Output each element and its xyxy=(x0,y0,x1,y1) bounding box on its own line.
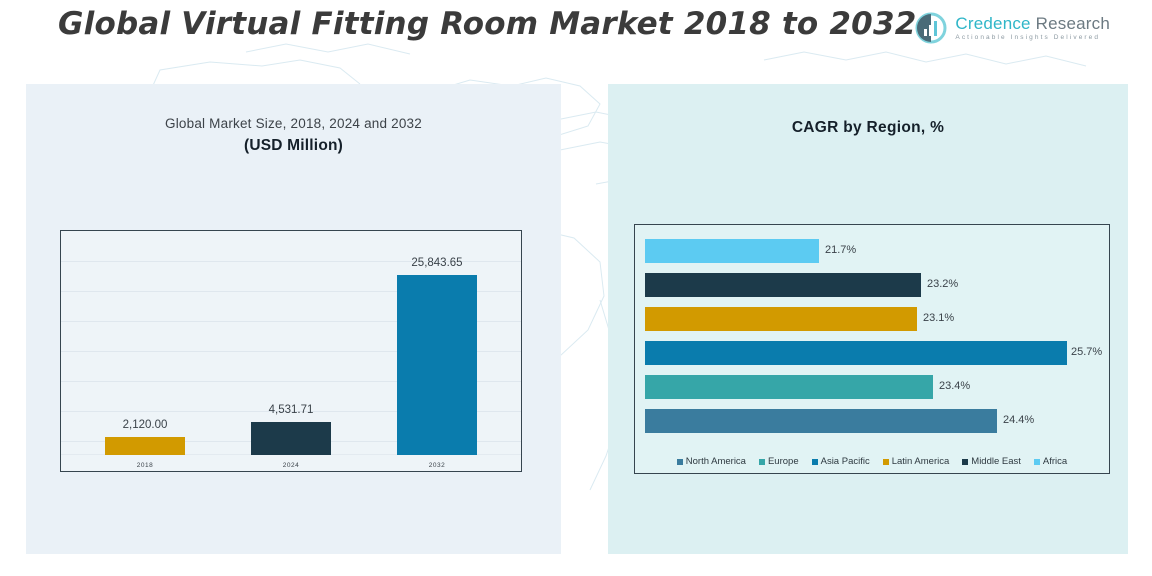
bar-label-2032: 25,843.65 xyxy=(387,257,487,269)
market-size-heading-line2: (USD Million) xyxy=(26,137,561,155)
infographic-page: Global Virtual Fitting Room Market 2018 … xyxy=(0,0,1152,576)
bar-chart-circle-logo-icon xyxy=(915,12,947,44)
legend-swatch-asia-pacific xyxy=(812,459,818,465)
page-header: Global Virtual Fitting Room Market 2018 … xyxy=(0,0,1152,62)
cagr-chart: 21.7% 23.2% 23.1% 25.7% 23.4% 24.4% Nort… xyxy=(634,224,1110,474)
bar-label-middle-east: 23.2% xyxy=(927,278,958,290)
legend-swatch-middle-east xyxy=(962,459,968,465)
xtick-2018: 2018 xyxy=(95,462,195,469)
cagr-panel: CAGR by Region, % 21.7% 23.2% 23.1% 25.7… xyxy=(608,84,1128,554)
bar-label-latin-america: 23.1% xyxy=(923,312,954,324)
bar-asia-pacific xyxy=(645,341,1067,365)
legend-label-europe: Europe xyxy=(768,456,799,467)
market-size-chart: 2,120.00 2018 4,531.71 2024 25,843.65 20… xyxy=(60,230,522,472)
legend-item-asia-pacific[interactable]: Asia Pacific xyxy=(812,456,870,467)
legend-label-middle-east: Middle East xyxy=(971,456,1021,467)
page-title: Global Virtual Fitting Room Market 2018 … xyxy=(58,6,916,42)
bar-europe xyxy=(645,375,933,399)
brand-logo: Credence Research Actionable Insights De… xyxy=(915,12,1110,44)
legend-label-asia-pacific: Asia Pacific xyxy=(821,456,870,467)
logo-tagline: Actionable Insights Delivered xyxy=(955,35,1110,42)
bar-label-africa: 21.7% xyxy=(825,244,856,256)
cagr-legend: North America Europe Asia Pacific Latin … xyxy=(635,456,1109,467)
logo-name-secondary: Research xyxy=(1036,14,1110,33)
bar-2032 xyxy=(397,275,477,455)
legend-swatch-north-america xyxy=(677,459,683,465)
bar-north-america xyxy=(645,409,997,433)
logo-name-primary: Credence xyxy=(955,14,1030,33)
cagr-heading-text: CAGR by Region, % xyxy=(608,119,1128,137)
bar-label-north-america: 24.4% xyxy=(1003,414,1034,426)
legend-item-middle-east[interactable]: Middle East xyxy=(962,456,1021,467)
legend-label-north-america: North America xyxy=(686,456,746,467)
legend-item-north-america[interactable]: North America xyxy=(677,456,746,467)
bar-2018 xyxy=(105,437,185,455)
legend-item-africa[interactable]: Africa xyxy=(1034,456,1067,467)
bar-2024 xyxy=(251,422,331,455)
legend-label-latin-america: Latin America xyxy=(892,456,950,467)
legend-swatch-europe xyxy=(759,459,765,465)
market-size-heading: Global Market Size, 2018, 2024 and 2032 … xyxy=(26,116,561,155)
bar-africa xyxy=(645,239,819,263)
xtick-2032: 2032 xyxy=(387,462,487,469)
xtick-2024: 2024 xyxy=(241,462,341,469)
market-size-heading-line1: Global Market Size, 2018, 2024 and 2032 xyxy=(26,116,561,131)
bar-label-2024: 4,531.71 xyxy=(241,404,341,416)
bar-latin-america xyxy=(645,307,917,331)
legend-item-latin-america[interactable]: Latin America xyxy=(883,456,950,467)
bar-label-europe: 23.4% xyxy=(939,380,970,392)
legend-label-africa: Africa xyxy=(1043,456,1067,467)
legend-swatch-latin-america xyxy=(883,459,889,465)
bar-label-2018: 2,120.00 xyxy=(95,419,195,431)
bar-middle-east xyxy=(645,273,921,297)
market-size-panel: Global Market Size, 2018, 2024 and 2032 … xyxy=(26,84,561,554)
bar-label-asia-pacific: 25.7% xyxy=(1071,346,1102,358)
cagr-heading: CAGR by Region, % xyxy=(608,119,1128,137)
legend-item-europe[interactable]: Europe xyxy=(759,456,799,467)
legend-swatch-africa xyxy=(1034,459,1040,465)
